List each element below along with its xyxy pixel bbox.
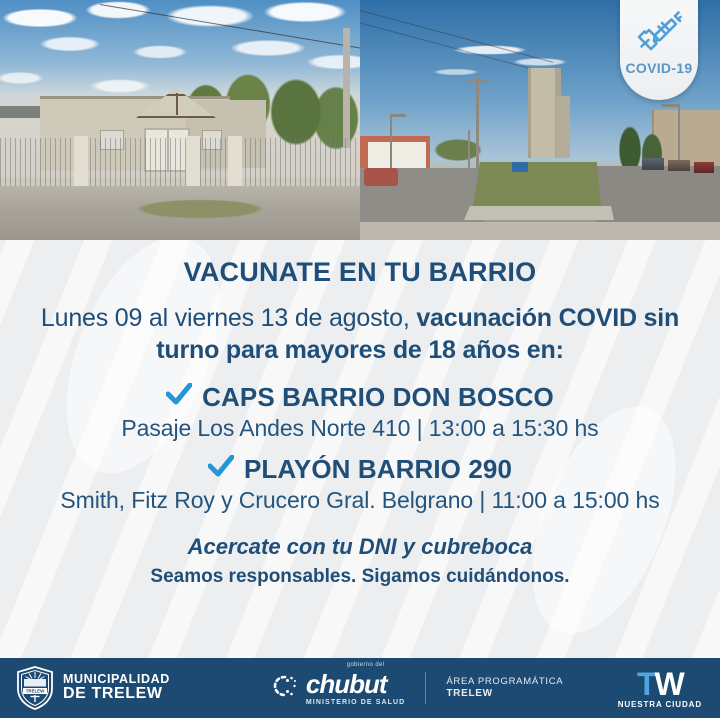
tw-logo-icon: TW NUESTRA CIUDAD <box>618 668 702 709</box>
footer-bar: TRELEW MUNICIPALIDAD DE TRELEW <box>0 658 720 718</box>
area-programatica-block: ÁREA PROGRAMÁTICA TRELEW <box>446 676 563 700</box>
area-line1: ÁREA PROGRAMÁTICA <box>446 676 563 688</box>
lead-paragraph: Lunes 09 al viernes 13 de agosto, vacuna… <box>28 302 692 366</box>
trees-middle <box>422 134 512 164</box>
vaccination-poster: COVID-19 VACUNATE EN TU BARRIO Lunes 09 … <box>0 0 720 718</box>
tw-letter-t: T <box>637 666 655 702</box>
municipality-text: MUNICIPALIDAD DE TRELEW <box>63 673 170 703</box>
area-line2: TRELEW <box>446 688 563 701</box>
lead-normal-text: Lunes 09 al viernes 13 de agosto, <box>41 304 416 332</box>
check-icon <box>166 383 192 412</box>
municipality-line2: DE TRELEW <box>63 686 170 703</box>
median-curb <box>464 206 614 220</box>
footer-divider <box>425 672 426 704</box>
tw-letter-w: W <box>655 666 683 702</box>
photo-strip: COVID-19 <box>0 0 720 240</box>
chubut-gobierno-label: gobierno del <box>347 662 385 668</box>
parked-cars <box>642 156 716 178</box>
check-icon <box>208 455 234 484</box>
fence-post <box>74 136 88 188</box>
fence-post <box>228 136 242 188</box>
place-name: PLAYÓN BARRIO 290 <box>244 454 512 485</box>
content-panel: VACUNATE EN TU BARRIO Lunes 09 al vierne… <box>0 240 720 658</box>
chubut-sun-icon <box>270 671 300 706</box>
place-item-2: PLAYÓN BARRIO 290 <box>0 454 720 485</box>
parked-car <box>364 168 398 186</box>
trelew-shield-icon: TRELEW <box>16 666 54 710</box>
place-name: CAPS BARRIO DON BOSCO <box>202 382 554 413</box>
chubut-word: chubutgobierno del <box>306 669 387 699</box>
utility-pole <box>476 78 479 176</box>
place-item-1: CAPS BARRIO DON BOSCO <box>0 382 720 413</box>
svg-text:TRELEW: TRELEW <box>26 689 45 694</box>
municipality-logo-block: TRELEW MUNICIPALIDAD DE TRELEW <box>16 666 170 710</box>
chubut-logo-block: chubutgobierno del MINISTERIO DE SALUD Á… <box>270 671 563 706</box>
tw-letters: TW <box>618 668 702 700</box>
sidewalk <box>360 222 720 240</box>
page-title: VACUNATE EN TU BARRIO <box>0 258 720 288</box>
covid-badge-label: COVID-19 <box>626 60 693 76</box>
subtagline: Seamos responsables. Sigamos cuidándonos… <box>0 566 720 588</box>
fence-post <box>186 136 200 188</box>
utility-pole <box>343 28 350 148</box>
syringe-icon <box>635 10 683 56</box>
tw-subtitle: NUESTRA CIUDAD <box>618 701 702 709</box>
place-address: Smith, Fitz Roy y Crucero Gral. Belgrano… <box>0 487 720 514</box>
grass-patch <box>120 196 280 222</box>
covid-badge: COVID-19 <box>620 0 698 100</box>
chubut-ministry-label: MINISTERIO DE SALUD <box>306 699 405 706</box>
chubut-wordmark: chubutgobierno del MINISTERIO DE SALUD <box>306 671 405 706</box>
place-address: Pasaje Los Andes Norte 410 | 13:00 a 15:… <box>0 415 720 442</box>
street-lamp <box>390 114 392 176</box>
silo-annex <box>556 96 570 158</box>
moving-car <box>512 162 528 172</box>
perimeter-fence <box>0 138 360 188</box>
tagline: Acercate con tu DNI y cubreboca <box>0 534 720 560</box>
photo-caps-don-bosco <box>0 0 360 240</box>
